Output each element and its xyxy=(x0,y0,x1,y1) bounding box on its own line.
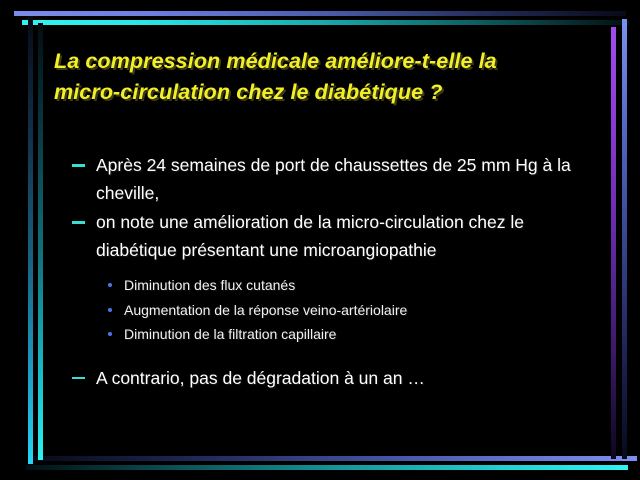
dash-bullet-icon xyxy=(72,164,85,167)
list-item-label: Après 24 semaines de port de chaussettes… xyxy=(96,155,571,203)
dot-bullet-icon xyxy=(108,283,112,287)
slide-title-line-2: micro-circulation chez le diabétique ? xyxy=(54,77,584,108)
border-bar-bottom-outer xyxy=(33,456,637,461)
list-item-label: on note une amélioration de la micro-cir… xyxy=(96,212,524,260)
dot-bullet-icon xyxy=(108,308,112,312)
list-spacer xyxy=(70,347,590,365)
list-item: Après 24 semaines de port de chaussettes… xyxy=(70,152,590,207)
slide-title-line-1: La compression médicale améliore-t-elle … xyxy=(54,46,584,77)
list-item-label: Diminution de la filtration capillaire xyxy=(124,326,336,342)
sub-list: Diminution des flux cutanés Augmentation… xyxy=(70,273,590,347)
slide-body: Après 24 semaines de port de chaussettes… xyxy=(70,152,590,394)
dash-bullet-icon xyxy=(72,221,85,224)
presentation-slide: La compression médicale améliore-t-elle … xyxy=(0,0,640,480)
border-bar-left-inner xyxy=(38,23,43,460)
border-bar-left-outer xyxy=(28,16,33,464)
list-item: on note une amélioration de la micro-cir… xyxy=(70,209,590,264)
list-item: Diminution de la filtration capillaire xyxy=(106,322,590,347)
border-bar-right-inner xyxy=(611,27,616,459)
border-bar-bottom-inner xyxy=(26,465,628,470)
list-item-label: Diminution des flux cutanés xyxy=(124,277,295,293)
dot-bullet-icon xyxy=(108,332,112,336)
list-item: Diminution des flux cutanés xyxy=(106,273,590,298)
border-bar-top-outer xyxy=(14,11,626,16)
dash-bullet-icon xyxy=(72,377,85,380)
list-item-label: A contrario, pas de dégradation à un an … xyxy=(96,368,425,388)
border-bar-right-outer xyxy=(622,19,627,459)
border-bar-top-inner xyxy=(22,20,629,25)
list-item: Augmentation de la réponse veino-artério… xyxy=(106,298,590,323)
slide-title: La compression médicale améliore-t-elle … xyxy=(54,46,584,108)
list-item: A contrario, pas de dégradation à un an … xyxy=(70,365,590,393)
list-item-label: Augmentation de la réponse veino-artério… xyxy=(124,302,407,318)
